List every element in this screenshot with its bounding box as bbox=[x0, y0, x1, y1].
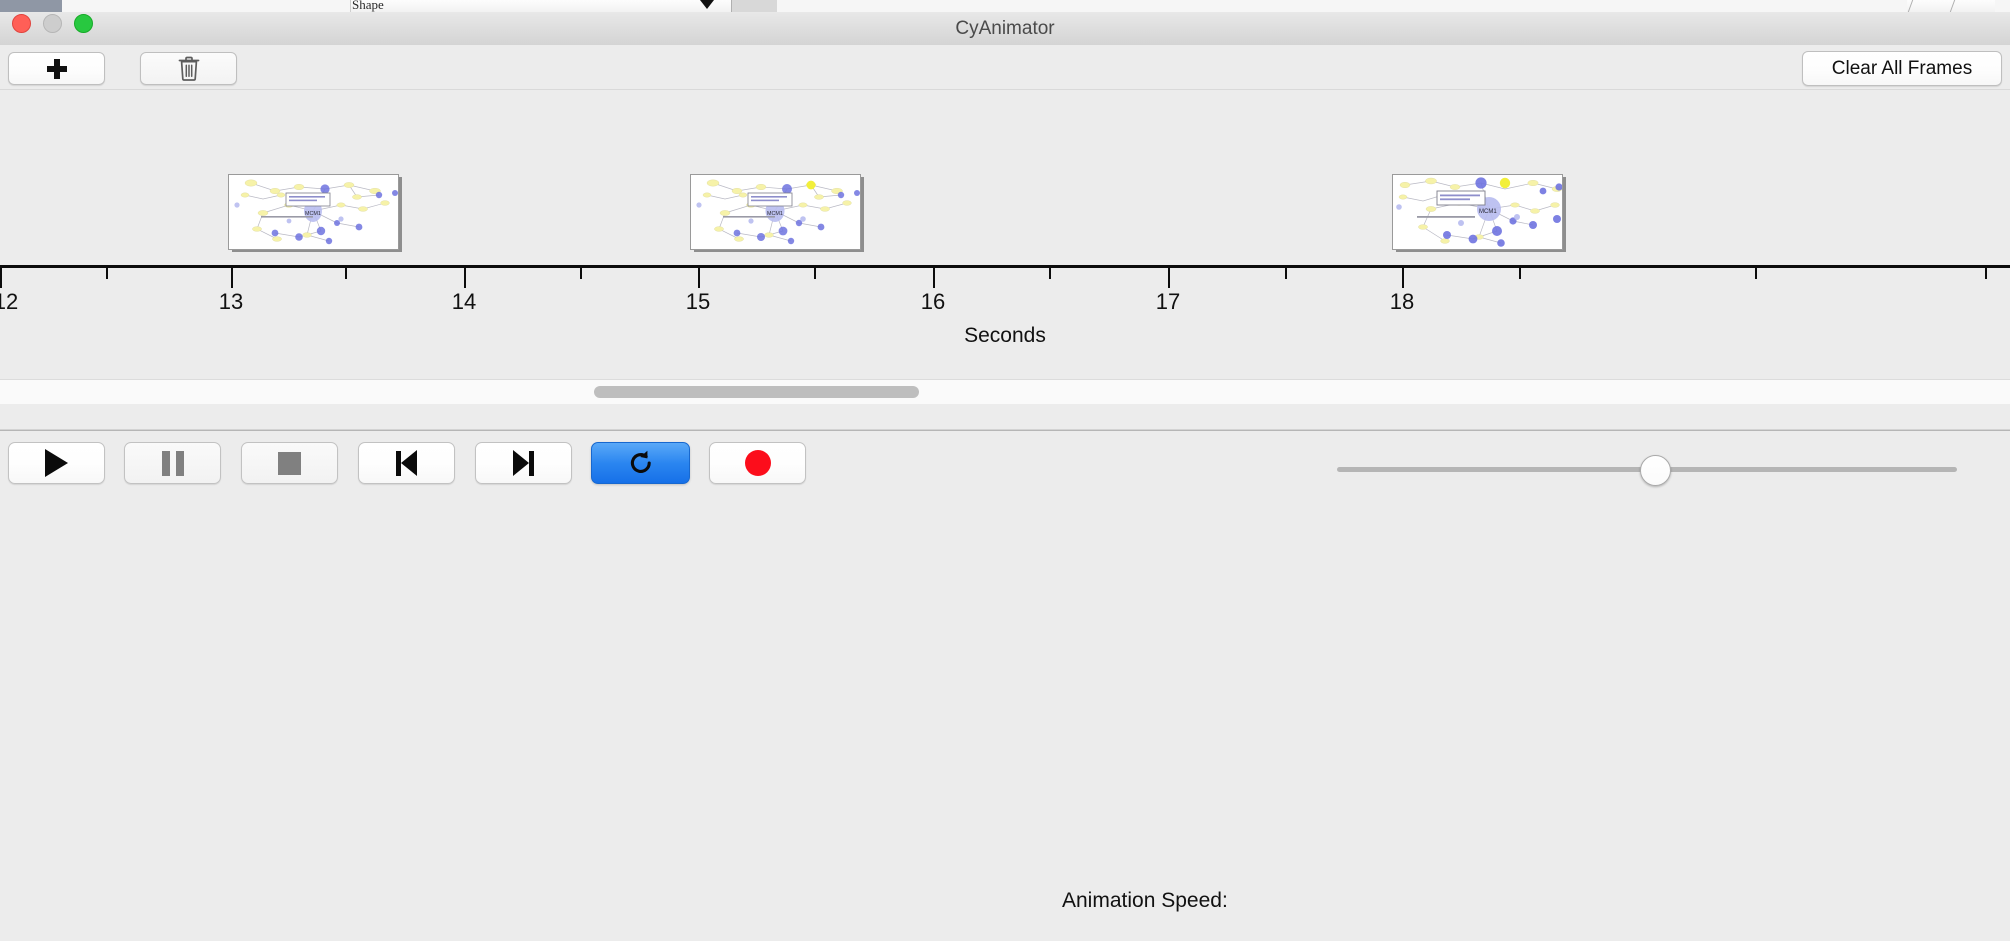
record-icon bbox=[745, 450, 771, 476]
axis-tick-minor bbox=[1049, 268, 1051, 279]
skip-start-icon bbox=[396, 450, 417, 476]
trash-icon bbox=[178, 56, 200, 81]
record-button[interactable] bbox=[709, 442, 806, 484]
background-marker-icon bbox=[700, 0, 714, 9]
keyframe-network-preview: MCM1 bbox=[1392, 174, 1563, 250]
background-fragment-e bbox=[731, 0, 779, 12]
animation-speed-label: Animation Speed: bbox=[1062, 861, 1228, 941]
axis-tick-minor bbox=[345, 268, 347, 279]
axis-tick-label: 14 bbox=[452, 289, 476, 315]
window-title: CyAnimator bbox=[0, 12, 2010, 45]
axis-tick-major bbox=[0, 268, 2, 288]
thumbnail-tooltip bbox=[1437, 191, 1485, 205]
timeline-top-divider bbox=[0, 89, 2010, 90]
axis-tick-label: 15 bbox=[686, 289, 710, 315]
axis-tick-minor bbox=[580, 268, 582, 279]
axis-tick-major bbox=[1402, 268, 1404, 288]
axis-tick-label: 13 bbox=[219, 289, 243, 315]
svg-text:MCM1: MCM1 bbox=[767, 211, 783, 217]
skip-end-icon bbox=[513, 450, 534, 476]
background-fragment-a bbox=[62, 0, 193, 12]
clear-all-frames-label: Clear All Frames bbox=[1832, 58, 1972, 80]
timeline-scrollbar[interactable] bbox=[0, 379, 2010, 404]
loop-button[interactable] bbox=[591, 442, 690, 484]
skip-start-button[interactable] bbox=[358, 442, 455, 484]
axis-tick-minor bbox=[814, 268, 816, 279]
svg-text:MCM1: MCM1 bbox=[1479, 209, 1497, 215]
background-fragment-b bbox=[192, 0, 243, 12]
play-button[interactable] bbox=[8, 442, 105, 484]
background-window-titlebar-fragment bbox=[0, 0, 62, 12]
background-fragment-h bbox=[1950, 0, 1955, 12]
axis-tick-major bbox=[933, 268, 935, 288]
cyanimator-window: Shape CyAnimator Clear All Frames bbox=[0, 0, 2010, 510]
keyframe-thumbnail[interactable]: MCM1 bbox=[690, 174, 862, 251]
delete-frame-button[interactable] bbox=[140, 52, 237, 85]
toolbar: Clear All Frames bbox=[0, 45, 2010, 90]
pause-button[interactable] bbox=[124, 442, 221, 484]
axis-tick-major bbox=[231, 268, 233, 288]
axis-tick-major bbox=[1168, 268, 1170, 288]
timeline-panel[interactable]: MCM1 bbox=[0, 89, 2010, 430]
play-icon bbox=[45, 449, 68, 477]
axis-tick-minor bbox=[106, 268, 108, 279]
clear-all-frames-button[interactable]: Clear All Frames bbox=[1802, 51, 2002, 86]
skip-end-button[interactable] bbox=[475, 442, 572, 484]
stop-button[interactable] bbox=[241, 442, 338, 484]
axis-tick-minor bbox=[1755, 268, 1757, 279]
timeline-axis bbox=[0, 265, 2010, 268]
loop-icon bbox=[627, 449, 655, 477]
axis-tick-minor bbox=[1285, 268, 1287, 279]
axis-tick-major bbox=[698, 268, 700, 288]
axis-tick-major bbox=[464, 268, 466, 288]
thumbnail-tooltip bbox=[286, 193, 330, 206]
axis-tick-label: 16 bbox=[921, 289, 945, 315]
axis-tick-label: 18 bbox=[1390, 289, 1414, 315]
pause-icon bbox=[162, 451, 184, 476]
plus-icon bbox=[47, 59, 67, 79]
keyframe-network-preview: MCM1 bbox=[690, 174, 861, 250]
background-fragment-d bbox=[304, 0, 351, 12]
axis-tick-minor bbox=[1519, 268, 1521, 279]
background-fragment-i bbox=[1995, 0, 2010, 12]
axis-tick-label: 17 bbox=[1156, 289, 1180, 315]
animation-speed-slider[interactable] bbox=[1337, 467, 1957, 473]
svg-text:MCM1: MCM1 bbox=[305, 211, 321, 217]
keyframe-network-preview: MCM1 bbox=[228, 174, 399, 250]
axis-tick-minor bbox=[1985, 268, 1987, 279]
background-fragment-g bbox=[1908, 0, 1913, 12]
background-fragment-f bbox=[777, 0, 1907, 12]
axis-tick-label: 12 bbox=[0, 289, 18, 315]
timeline-scrollbar-thumb[interactable] bbox=[594, 386, 919, 398]
background-fragment-c bbox=[242, 0, 305, 12]
axis-title: Seconds bbox=[0, 324, 2010, 348]
animation-speed-thumb[interactable] bbox=[1640, 455, 1671, 486]
keyframe-thumbnail[interactable]: MCM1 bbox=[228, 174, 400, 251]
stop-icon bbox=[278, 452, 301, 475]
keyframe-thumbnail[interactable]: MCM1 bbox=[1392, 174, 1564, 251]
thumbnail-tooltip bbox=[748, 193, 792, 206]
add-frame-button[interactable] bbox=[8, 52, 105, 85]
